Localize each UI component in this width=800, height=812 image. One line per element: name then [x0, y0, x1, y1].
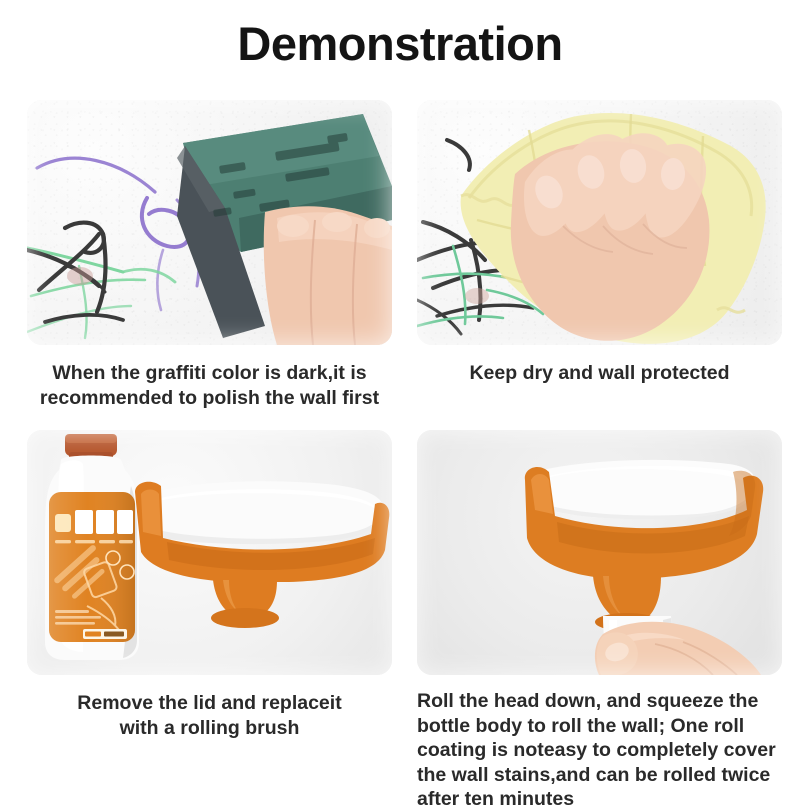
caption-line: Keep dry and wall protected [417, 361, 782, 386]
caption-line: with a rolling brush [27, 716, 392, 741]
caption-line: recommended to polish the wall first [27, 386, 392, 411]
caption-line: bottle body to roll the wall; One roll [417, 714, 782, 739]
caption-line: When the graffiti color is dark,it is [27, 361, 392, 386]
demonstration-page: Demonstration [0, 0, 800, 800]
caption-line: coating is noteasy to completely cover [417, 738, 782, 763]
demo-step-polish-wall: When the graffiti color is dark,it is re… [27, 100, 392, 411]
hand [264, 206, 392, 345]
scene-graphics [417, 430, 782, 675]
label-tagline [55, 540, 133, 543]
hand [595, 622, 761, 675]
caption-polish-wall: When the graffiti color is dark,it is re… [27, 361, 392, 411]
caption-keep-dry: Keep dry and wall protected [417, 361, 782, 386]
graffiti-smudge [67, 267, 93, 285]
photo-hand-sanding-block-on-graffiti-wall [27, 100, 392, 345]
white-roller [535, 460, 755, 519]
caption-roll-wall: Roll the head down, and squeeze the bott… [417, 689, 782, 812]
fingernail [322, 212, 352, 232]
demo-step-roll-wall: Roll the head down, and squeeze the bott… [417, 430, 782, 812]
orange-label [49, 492, 135, 642]
white-bottle [45, 434, 139, 660]
photo-hand-wiping-wall-with-yellow-cloth [417, 100, 782, 345]
caption-line: Remove the lid and replaceit [27, 691, 392, 716]
photo-paint-bottle-with-roller-brush-head [27, 430, 392, 675]
scene-graphics [417, 100, 782, 345]
scene-graphics [27, 100, 392, 345]
scene-graphics [27, 430, 392, 675]
demo-step-keep-dry: Keep dry and wall protected [417, 100, 782, 386]
fingernail [364, 218, 390, 238]
caption-line: Roll the head down, and squeeze the [417, 689, 782, 714]
orange-roller-frame [135, 481, 389, 628]
demo-step-replace-lid: Remove the lid and replaceit with a roll… [27, 430, 392, 741]
net-weight-badge [83, 629, 127, 639]
product-name-glyphs [75, 510, 133, 534]
graffiti-smudge [465, 288, 489, 304]
page-title: Demonstration [0, 14, 800, 74]
caption-replace-lid: Remove the lid and replaceit with a roll… [27, 691, 392, 741]
caption-line: the wall stains,and can be rolled twice [417, 763, 782, 788]
photo-orange-roller-head-pressed-on-wall [417, 430, 782, 675]
white-roller [143, 481, 383, 544]
fingernail [277, 215, 309, 237]
brand-badge [55, 514, 71, 532]
caption-line: after ten minutes [417, 787, 782, 812]
